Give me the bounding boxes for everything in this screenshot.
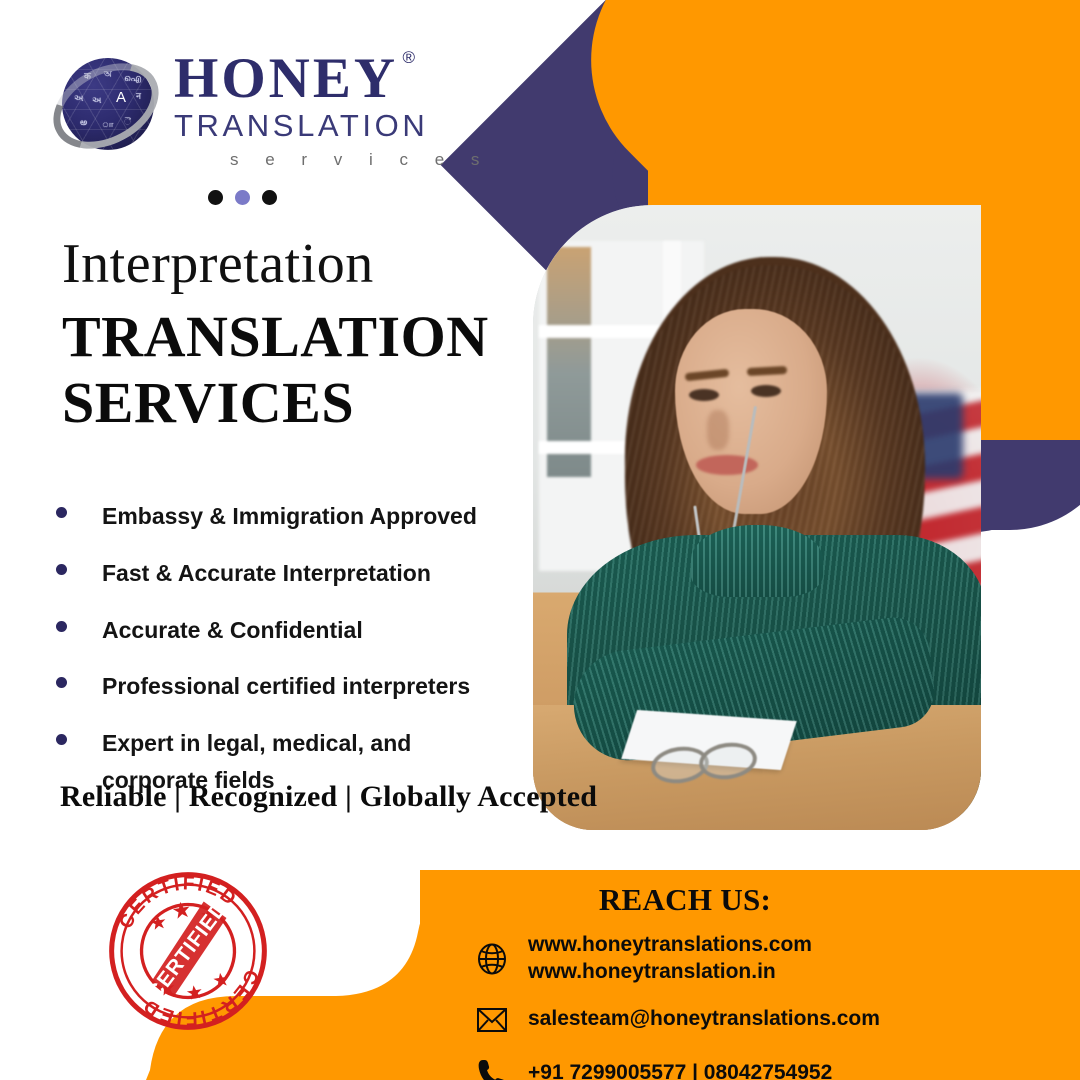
photo-person-face [675,309,827,514]
contact-row-email[interactable]: salesteam@honeytranslations.com [470,1000,1070,1040]
list-item: Professional certified interpreters [56,668,526,705]
hero-photo [533,205,981,830]
contact-row-website[interactable]: www.honeytranslations.com www.honeytrans… [470,932,1070,986]
page-title: Interpretation TRANSLATION SERVICES [62,236,489,436]
brand-logo-text: HONEY ® TRANSLATION s e r v i c e s [174,46,490,170]
feature-label: Professional certified interpreters [102,668,470,705]
decor-dots [208,190,277,205]
bullet-dot-icon [56,507,67,518]
photo-person-collar-texture [691,525,823,597]
list-item: Embassy & Immigration Approved [56,498,526,535]
phone-icon [470,1054,514,1080]
globe-languages-icon: क অ ഐ અ અ A न అ ா ୖ [52,50,160,158]
phone-numbers[interactable]: +91 7299005577 | 08042754952 [528,1060,832,1080]
website-links[interactable]: www.honeytranslations.com www.honeytrans… [528,932,812,986]
contact-panel: REACH US: www.honeytranslations.com www.… [140,870,1080,1080]
list-item: Fast & Accurate Interpretation [56,555,526,592]
brand-logo[interactable]: क অ ഐ અ અ A न అ ா ୖ HONEY ® TRANSLATION … [52,46,490,170]
certified-stamp-icon: CERTIFIED CERTIFIED CERTIFIED [93,856,283,1046]
feature-label: Accurate & Confidential [102,612,363,649]
bullet-dot-icon [56,677,67,688]
website-link-1[interactable]: www.honeytranslations.com [528,932,812,959]
poster-canvas: क অ ഐ અ અ A न అ ா ୖ HONEY ® TRANSLATION … [0,0,1080,1080]
bullet-dot-icon [56,621,67,632]
headline-bold-line-1: TRANSLATION [62,304,489,370]
dot-2 [235,190,250,205]
dot-3 [262,190,277,205]
email-address[interactable]: salesteam@honeytranslations.com [528,1006,880,1033]
tagline: Reliable | Recognized | Globally Accepte… [60,780,597,814]
contact-content: REACH US: www.honeytranslations.com www.… [470,882,1070,1080]
feature-label: Embassy & Immigration Approved [102,498,477,535]
photo-person-nose [707,410,729,450]
feature-label: Fast & Accurate Interpretation [102,555,431,592]
photo-eyeglasses [651,743,771,777]
brand-name-secondary: TRANSLATION [174,108,490,144]
eyeglass-lens [697,739,759,783]
globe-icon [470,939,514,979]
envelope-icon [470,1000,514,1040]
photo-person-eye [689,389,719,401]
bullet-dot-icon [56,734,67,745]
photo-person-eye [751,385,781,397]
list-item: Accurate & Confidential [56,612,526,649]
feature-list: Embassy & Immigration Approved Fast & Ac… [56,498,526,819]
photo-person-lips [696,455,758,475]
registered-trademark-icon: ® [403,50,419,66]
contact-title: REACH US: [470,882,900,918]
website-link-2[interactable]: www.honeytranslation.in [528,959,812,986]
bullet-dot-icon [56,564,67,575]
headline-bold-line-2: SERVICES [62,370,489,436]
headline-script-line: Interpretation [62,236,489,292]
brand-name-primary: HONEY [174,47,398,110]
contact-row-phone[interactable]: +91 7299005577 | 08042754952 [470,1054,1070,1080]
dot-1 [208,190,223,205]
brand-name-tertiary: s e r v i c e s [174,150,490,170]
